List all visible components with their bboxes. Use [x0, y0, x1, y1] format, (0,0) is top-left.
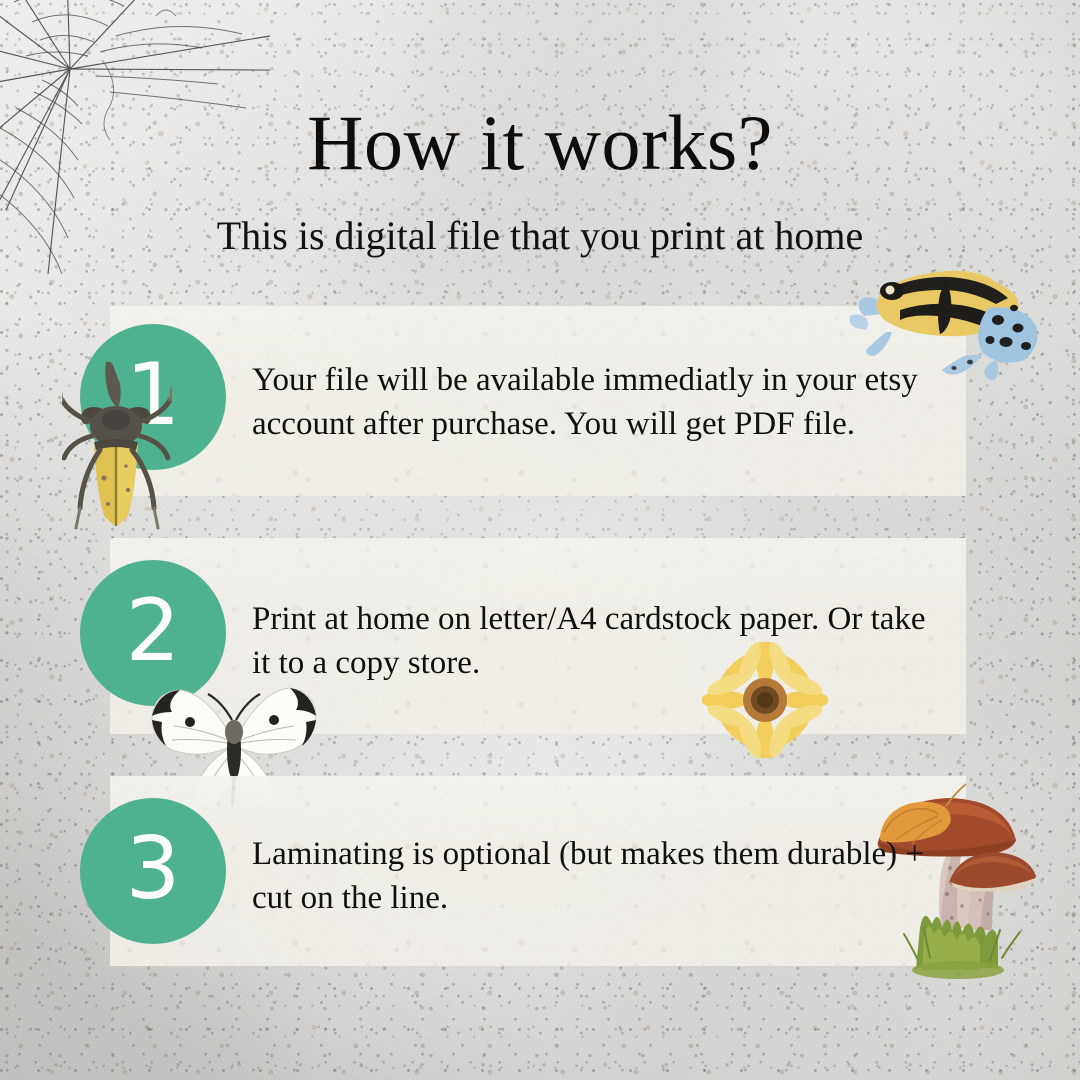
step-number-2: 2 — [126, 588, 181, 674]
step-number-1: 1 — [126, 352, 181, 438]
page-subtitle: This is digital file that you print at h… — [0, 214, 1080, 258]
page-title: How it works? — [0, 104, 1080, 182]
step-text-1: Your file will be available immediatly i… — [252, 358, 952, 446]
step-number-circle-3: 3 — [80, 798, 226, 944]
step-number-circle-2: 2 — [80, 560, 226, 706]
step-text-3: Laminating is optional (but makes them d… — [252, 832, 952, 920]
step-number-circle-1: 1 — [80, 324, 226, 470]
poster-canvas: How it works? This is digital file that … — [0, 0, 1080, 1080]
step-number-3: 3 — [126, 826, 181, 912]
step-text-2: Print at home on letter/A4 cardstock pap… — [252, 597, 952, 685]
